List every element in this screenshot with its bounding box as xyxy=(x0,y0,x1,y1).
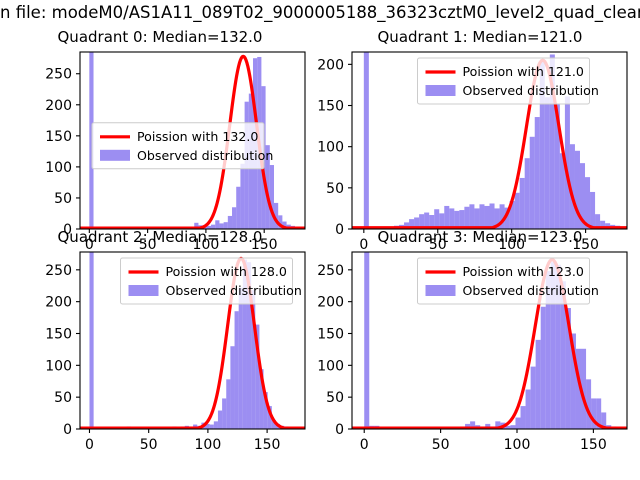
x-tick-label: 150 xyxy=(580,437,607,453)
y-tick-label: 150 xyxy=(45,129,72,145)
chart-svg-quadrant-3: 050100150050100150200250Poission with 12… xyxy=(320,228,640,460)
x-tick-label: 50 xyxy=(432,437,450,453)
y-tick-label: 250 xyxy=(45,263,72,279)
y-axis-ticks: 050100150200250 xyxy=(317,263,352,438)
legend-label-observed: Observed distribution xyxy=(166,283,302,298)
legend[interactable]: Poission with 128.0Observed distribution xyxy=(121,258,302,304)
legend[interactable]: Poission with 132.0Observed distribution xyxy=(92,123,273,169)
subplot-quadrant-0: Quadrant 0: Median=132.0 050100150050100… xyxy=(0,28,320,240)
y-tick-label: 150 xyxy=(317,326,344,342)
y-tick-label: 100 xyxy=(45,358,72,374)
legend-label-observed: Observed distribution xyxy=(137,148,273,163)
y-tick-label: 100 xyxy=(317,140,344,156)
chart-svg-quadrant-0: 050100150050100150200250Poission with 13… xyxy=(0,28,320,240)
y-tick-label: 50 xyxy=(54,390,72,406)
y-tick-label: 100 xyxy=(45,160,72,176)
x-tick-label: 150 xyxy=(254,437,281,453)
legend-label-observed: Observed distribution xyxy=(463,83,599,98)
matplotlib-figure: n file: modeM0/AS1A11_089T02_9000005188_… xyxy=(0,0,640,480)
y-tick-label: 0 xyxy=(335,422,344,438)
subplot-quadrant-1: Quadrant 1: Median=121.0 050100150050100… xyxy=(320,28,640,240)
legend[interactable]: Poission with 121.0Observed distribution xyxy=(418,58,599,104)
legend-label-poisson: Poission with 128.0 xyxy=(166,264,287,279)
y-tick-label: 150 xyxy=(317,99,344,115)
y-tick-label: 50 xyxy=(326,390,344,406)
y-tick-label: 50 xyxy=(326,181,344,197)
y-axis-ticks: 050100150200 xyxy=(317,57,352,238)
subplot-quadrant-2: Quadrant 2: Median=128.0 050100150050100… xyxy=(0,228,320,460)
y-tick-label: 250 xyxy=(45,67,72,83)
x-tick-label: 0 xyxy=(85,437,94,453)
x-tick-label: 100 xyxy=(504,437,531,453)
y-tick-label: 150 xyxy=(45,326,72,342)
chart-svg-quadrant-1: 050100150050100150200Poission with 121.0… xyxy=(320,28,640,240)
subplot-quadrant-3: Quadrant 3: Median=123.0 050100150050100… xyxy=(320,228,640,460)
x-tick-label: 0 xyxy=(360,437,369,453)
y-tick-label: 200 xyxy=(317,57,344,73)
figure-suptitle-text: n file: modeM0/AS1A11_089T02_9000005188_… xyxy=(0,3,640,22)
x-axis-ticks: 050100150 xyxy=(85,429,280,453)
plot-area-quadrant-0: 050100150050100150200250Poission with 13… xyxy=(0,28,320,240)
y-tick-label: 50 xyxy=(54,191,72,207)
y-tick-label: 200 xyxy=(45,295,72,311)
legend[interactable]: Poission with 123.0Observed distribution xyxy=(418,258,599,304)
legend-label-poisson: Poission with 121.0 xyxy=(463,64,584,79)
plot-area-quadrant-2: 050100150050100150200250Poission with 12… xyxy=(0,228,320,460)
y-axis-ticks: 050100150200250 xyxy=(45,67,80,238)
plot-area-quadrant-3: 050100150050100150200250Poission with 12… xyxy=(320,228,640,460)
y-tick-label: 200 xyxy=(317,295,344,311)
y-tick-label: 0 xyxy=(63,422,72,438)
x-tick-label: 100 xyxy=(195,437,222,453)
legend-label-poisson: Poission with 132.0 xyxy=(137,129,258,144)
y-tick-label: 250 xyxy=(317,263,344,279)
legend-label-poisson: Poission with 123.0 xyxy=(463,264,584,279)
x-axis-ticks: 050100150 xyxy=(360,429,607,453)
chart-svg-quadrant-2: 050100150050100150200250Poission with 12… xyxy=(0,228,320,460)
figure-suptitle: n file: modeM0/AS1A11_089T02_9000005188_… xyxy=(0,3,640,22)
y-tick-label: 100 xyxy=(317,358,344,374)
y-tick-label: 200 xyxy=(45,98,72,114)
x-tick-label: 50 xyxy=(140,437,158,453)
plot-area-quadrant-1: 050100150050100150200Poission with 121.0… xyxy=(320,28,640,240)
y-axis-ticks: 050100150200250 xyxy=(45,263,80,438)
legend-label-observed: Observed distribution xyxy=(463,283,599,298)
